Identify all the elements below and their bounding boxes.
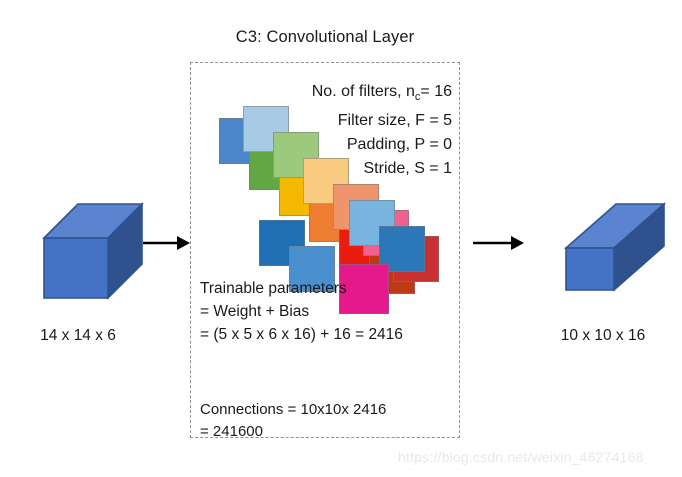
arrow-input-to-layer xyxy=(143,233,191,253)
filters-value: = 16 xyxy=(420,83,452,100)
filters-count-line: No. of filters, nc= 16 xyxy=(200,80,452,109)
connections-block: Connections = 10x10x 2416 = 241600 xyxy=(200,399,456,443)
output-cube-label: 10 x 10 x 16 xyxy=(528,327,678,345)
input-cube-label: 14 x 14 x 6 xyxy=(8,327,148,345)
trainable-parameters-block: Trainable parameters = Weight + Bias = (… xyxy=(200,277,456,346)
trainable-line-1: Trainable parameters xyxy=(200,277,456,300)
filter-parameters: No. of filters, nc= 16 Filter size, F = … xyxy=(200,80,452,181)
padding-line: Padding, P = 0 xyxy=(200,133,452,157)
page-title: C3: Convolutional Layer xyxy=(150,28,500,47)
stride-line: Stride, S = 1 xyxy=(200,157,452,181)
watermark: https://blog.csdn.net/weixin_46274168 xyxy=(398,449,644,465)
output-volume-cube xyxy=(560,196,670,304)
filters-label: No. of filters, n xyxy=(312,83,415,100)
input-volume-cube xyxy=(38,196,148,304)
diagram-canvas: C3: Convolutional Layer 14 x 14 x 6 No. … xyxy=(0,0,682,477)
trainable-line-3: = (5 x 5 x 6 x 16) + 16 = 2416 xyxy=(200,323,456,346)
filter-size-line: Filter size, F = 5 xyxy=(200,109,452,133)
arrow-layer-to-output xyxy=(473,233,525,253)
trainable-line-2: = Weight + Bias xyxy=(200,300,456,323)
connections-line-1: Connections = 10x10x 2416 xyxy=(200,399,456,421)
connections-line-2: = 241600 xyxy=(200,421,456,443)
